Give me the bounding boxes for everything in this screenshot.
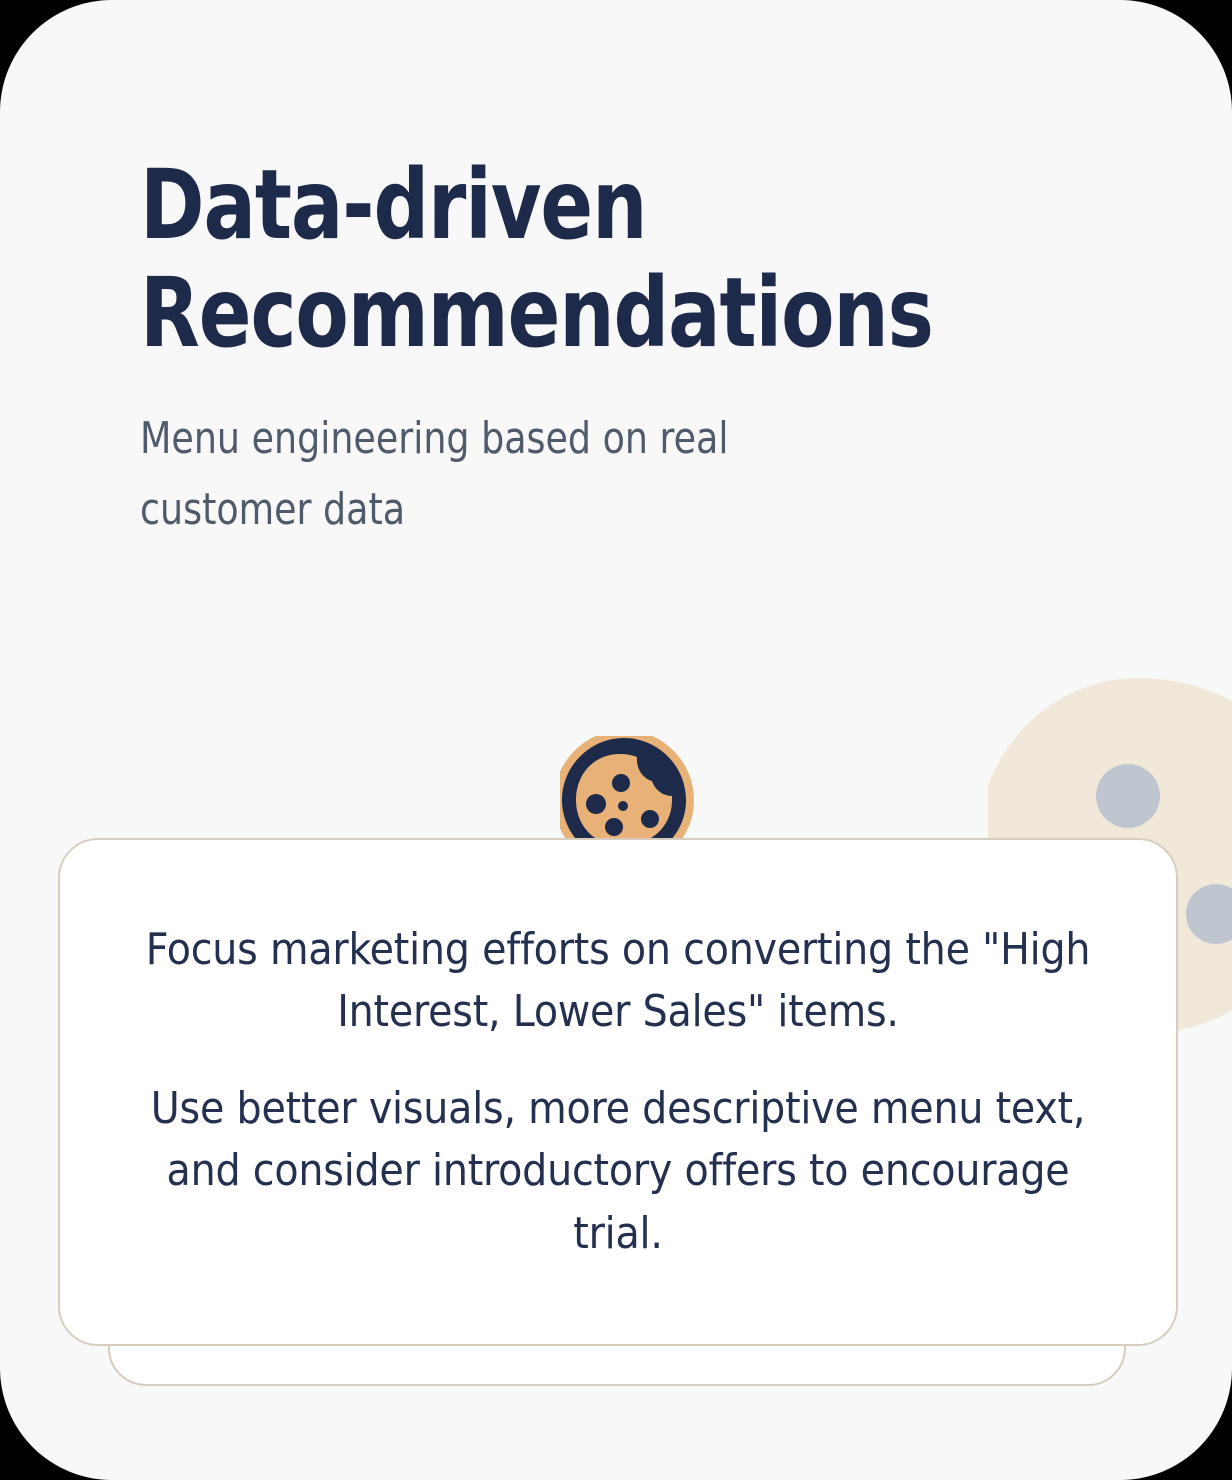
recommendation-paragraph-1: Focus marketing efforts on converting th… xyxy=(124,919,1112,1044)
cookie-chip-4 xyxy=(605,818,623,836)
background-cookie-chip-2 xyxy=(1186,884,1232,944)
cookie-chip-3 xyxy=(618,801,628,811)
recommendation-paragraph-2: Use better visuals, more descriptive men… xyxy=(124,1078,1112,1265)
page-title: Data-driven Recommendations xyxy=(140,152,986,367)
header-block: Data-driven Recommendations Menu enginee… xyxy=(140,152,1080,546)
cookie-chip-1 xyxy=(612,774,630,792)
cookie-chip-2 xyxy=(586,794,606,814)
cookie-chip-5 xyxy=(641,810,659,828)
background-cookie-chip-1 xyxy=(1096,764,1160,828)
page-subtitle: Menu engineering based on real customer … xyxy=(140,403,876,546)
recommendation-card: Focus marketing efforts on converting th… xyxy=(58,838,1178,1346)
recommendations-card-screen: Data-driven Recommendations Menu enginee… xyxy=(0,0,1232,1480)
